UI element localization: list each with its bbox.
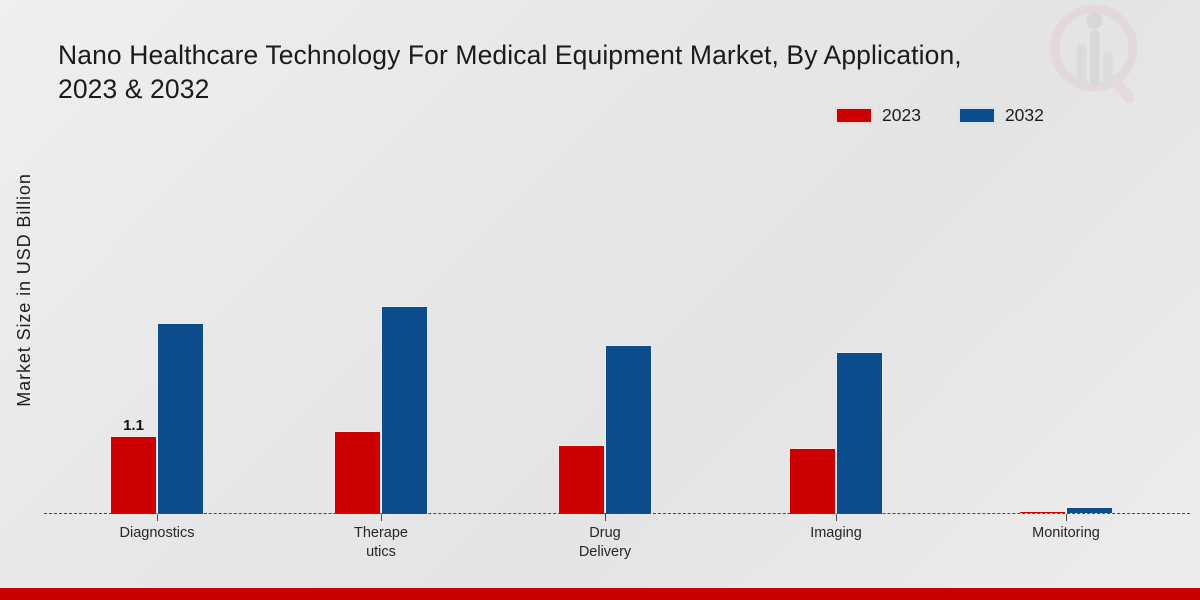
bar-value-label: 1.1 (123, 417, 144, 434)
bar-2032-therapeutics[interactable] (381, 306, 428, 514)
bar-pair: 1.1 (110, 140, 204, 514)
x-axis-tick (1066, 514, 1067, 521)
bar-2023-drugdelivery[interactable] (558, 445, 605, 514)
bar-2023-therapeutics[interactable] (334, 431, 381, 514)
legend-item-2032[interactable]: 2032 (959, 105, 1044, 126)
x-axis-category-label: Diagnostics (67, 524, 247, 543)
x-axis-tick (381, 514, 382, 521)
bar-2032-imaging[interactable] (836, 352, 883, 514)
blue-legend-swatch (959, 108, 995, 123)
plot-area: 1.1 (44, 140, 1190, 514)
legend-label-2023: 2023 (882, 105, 921, 126)
bar-group (334, 140, 428, 514)
x-axis-category-label: Therape utics (291, 524, 471, 562)
bar-group (789, 140, 883, 514)
bar-2032-diagnostics[interactable] (157, 323, 204, 514)
red-legend-swatch (836, 108, 872, 123)
x-axis-category-label: Imaging (746, 524, 926, 543)
chart-canvas: Nano Healthcare Technology For Medical E… (0, 0, 1200, 600)
bar-pair (334, 140, 428, 514)
bar-pair (789, 140, 883, 514)
chart-legend: 2023 2032 (836, 105, 1044, 126)
bar-group (1019, 140, 1113, 514)
legend-item-2023[interactable]: 2023 (836, 105, 921, 126)
bar-2032-drugdelivery[interactable] (605, 345, 652, 514)
x-axis-tick (157, 514, 158, 521)
x-axis-tick (605, 514, 606, 521)
bar-2023-imaging[interactable] (789, 448, 836, 514)
bar-pair (1019, 140, 1113, 514)
x-axis-category-label: Monitoring (976, 524, 1156, 543)
y-axis-label-text: Market Size in USD Billion (14, 173, 35, 406)
x-axis-tick (836, 514, 837, 521)
bar-group: 1.1 (110, 140, 204, 514)
x-axis-category-label: Drug Delivery (515, 524, 695, 562)
bottom-red-banner (0, 588, 1200, 600)
legend-label-2032: 2032 (1005, 105, 1044, 126)
bar-pair (558, 140, 652, 514)
x-axis-baseline (44, 513, 1190, 514)
bar-2023-diagnostics[interactable]: 1.1 (110, 436, 157, 514)
y-axis-label: Market Size in USD Billion (8, 0, 40, 590)
bar-group (558, 140, 652, 514)
chart-title: Nano Healthcare Technology For Medical E… (58, 38, 1188, 106)
